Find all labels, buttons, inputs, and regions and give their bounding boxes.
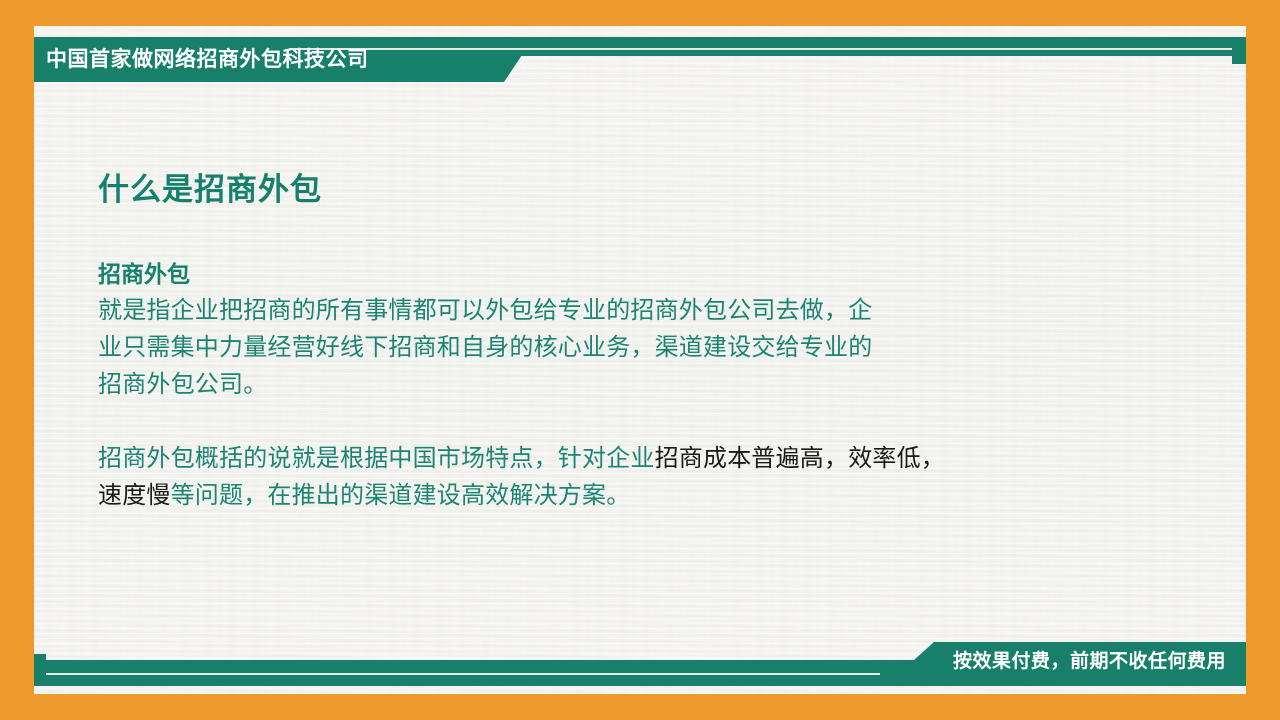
slide-canvas: 中国首家做网络招商外包科技公司 什么是招商外包 招商外包 就是指企业把招商的所有… [0, 0, 1280, 720]
footer-green-tail [34, 642, 934, 686]
header-right-sliver [1232, 37, 1246, 64]
header-title: 中国首家做网络招商外包科技公司 [46, 44, 369, 76]
paragraph-2-segment-emphasis-b: 速度慢 [98, 482, 171, 509]
lead-label: 招商外包 [98, 258, 1218, 290]
main-content: 什么是招商外包 招商外包 就是指企业把招商的所有事情都可以外包给专业的招商外包公… [98, 170, 1218, 514]
paragraph-2-segment-green-b: 等问题，在推出的渠道建设高效解决方案。 [171, 482, 631, 509]
paragraph-2-segment-emphasis-a: 招商成本普遍高，效率低， [655, 445, 945, 472]
paragraph-1-line-1: 就是指企业把招商的所有事情都可以外包给专业的招商外包公司去做，企 [98, 297, 872, 324]
section-title: 什么是招商外包 [98, 170, 1218, 210]
header-thin-rule [290, 48, 1246, 50]
footer-thin-rule [34, 673, 880, 675]
paragraph-1-line-2: 业只需集中力量经营好线下招商和自身的核心业务，渠道建设交给专业的 [98, 334, 872, 361]
paragraph-1-line-3: 招商外包公司。 [98, 371, 267, 398]
header-green-tail [512, 37, 1246, 56]
paragraph-1: 就是指企业把招商的所有事情都可以外包给专业的招商外包公司去做，企 业只需集中力量… [98, 292, 1218, 403]
paragraph-2: 招商外包概括的说就是根据中国市场特点，针对企业招商成本普遍高，效率低，速度慢等问… [98, 440, 1218, 514]
footer-left-sliver [34, 654, 46, 686]
paragraph-2-segment-green-a: 招商外包概括的说就是根据中国市场特点，针对企业 [98, 445, 655, 472]
footer-tagline: 按效果付费，前期不收任何费用 [953, 648, 1226, 676]
